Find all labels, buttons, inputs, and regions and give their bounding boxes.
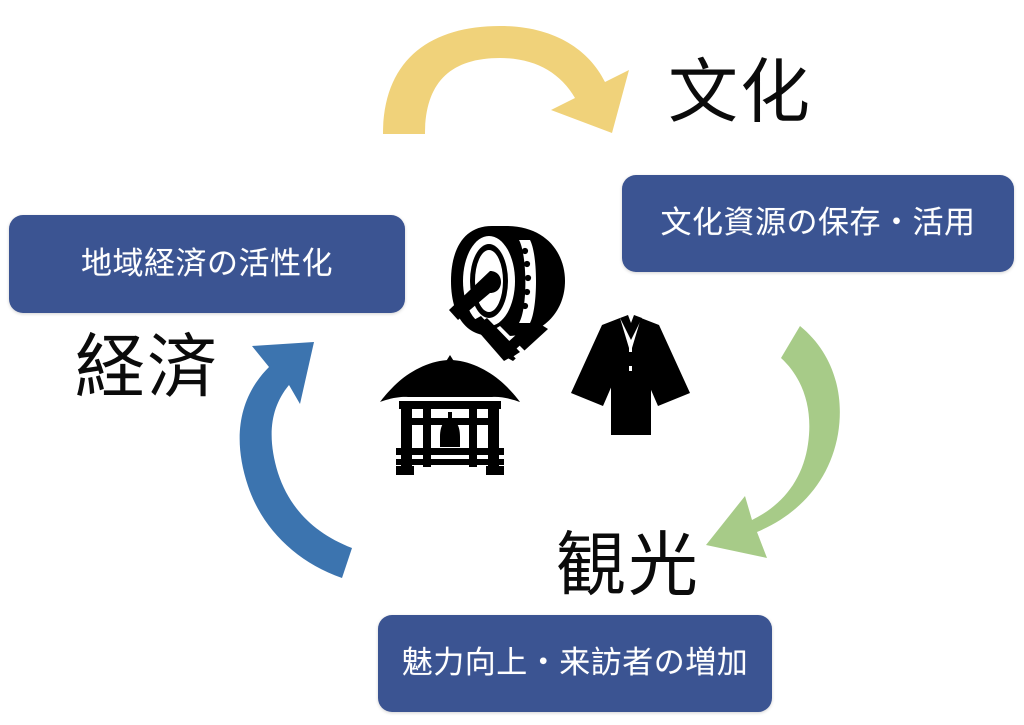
heading-economy: 経済 bbox=[75, 332, 219, 402]
label-box-culture[interactable]: 文化資源の保存・活用 bbox=[622, 175, 1014, 272]
heading-culture: 文化 bbox=[668, 57, 812, 127]
label-box-tourism-text: 魅力向上・来訪者の増加 bbox=[402, 646, 749, 680]
arrow-culture-to-tourism bbox=[706, 326, 840, 558]
label-box-culture-text: 文化資源の保存・活用 bbox=[661, 206, 976, 240]
kimono-icon bbox=[571, 315, 690, 435]
arrow-economy-to-culture bbox=[383, 26, 629, 134]
diagram-canvas: 文化 経済 観光 地域経済の活性化 文化資源の保存・活用 魅力向上・来訪者の増加 bbox=[0, 0, 1024, 725]
label-box-tourism[interactable]: 魅力向上・来訪者の増加 bbox=[378, 615, 772, 712]
taiko-drum-icon bbox=[449, 226, 565, 367]
heading-tourism: 観光 bbox=[556, 530, 700, 600]
shrine-bell-tower-icon bbox=[380, 355, 520, 475]
label-box-economy[interactable]: 地域経済の活性化 bbox=[9, 215, 405, 313]
label-box-economy-text: 地域経済の活性化 bbox=[81, 247, 333, 281]
arrow-tourism-to-economy bbox=[240, 342, 352, 578]
